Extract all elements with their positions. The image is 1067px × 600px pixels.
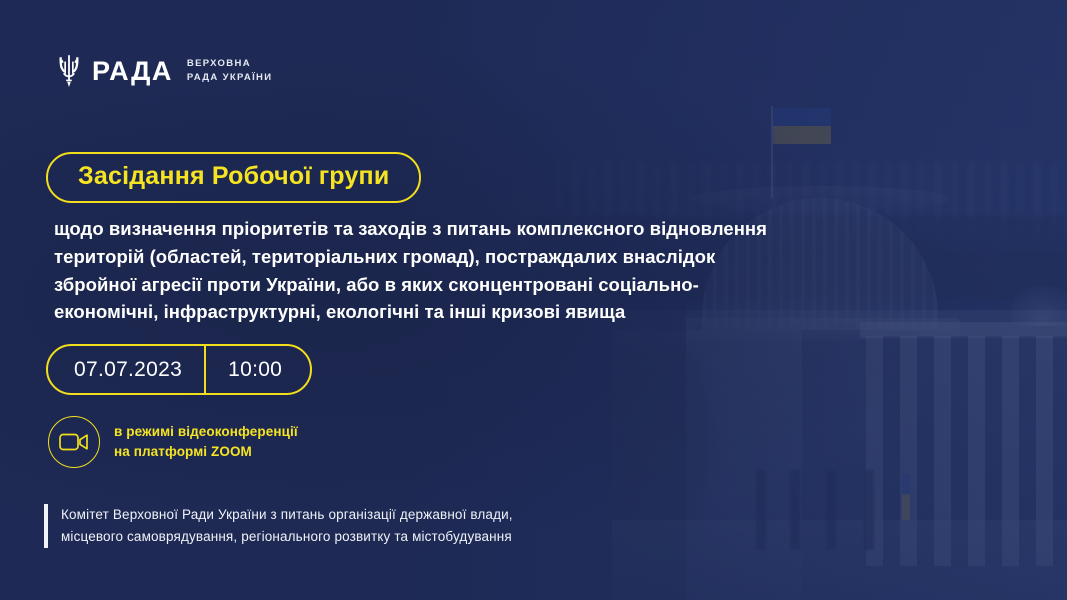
event-datetime-pill: 07.07.2023 10:00 bbox=[46, 344, 312, 395]
description-line-2: територій (областей, територіальних гром… bbox=[54, 243, 834, 271]
committee-footer: Комітет Верховної Ради України з питань … bbox=[44, 504, 513, 548]
event-date: 07.07.2023 bbox=[48, 346, 204, 393]
logo-wordmark: РАДА bbox=[92, 58, 173, 85]
ukrainian-trident-icon bbox=[56, 54, 82, 88]
logo-subtitle: ВЕРХОВНА РАДА УКРАЇНИ bbox=[187, 57, 273, 85]
event-announcement-poster: РАДА ВЕРХОВНА РАДА УКРАЇНИ Засідання Роб… bbox=[0, 0, 1067, 600]
description-line-3: збройної агресії проти України, або в як… bbox=[54, 271, 834, 299]
event-time: 10:00 bbox=[206, 346, 310, 393]
event-title-pill: Засідання Робочої групи bbox=[46, 152, 421, 203]
event-description: щодо визначення пріоритетів та заходів з… bbox=[54, 215, 834, 326]
committee-name: Комітет Верховної Ради України з питань … bbox=[61, 504, 513, 548]
event-title: Засідання Робочої групи bbox=[78, 162, 389, 190]
videoconference-text: в режимі відеоконференції на платформі Z… bbox=[114, 422, 298, 461]
video-camera-icon bbox=[48, 416, 100, 468]
description-line-4: економічні, інфраструктурні, екологічні … bbox=[54, 298, 834, 326]
rada-logo: РАДА ВЕРХОВНА РАДА УКРАЇНИ bbox=[56, 54, 272, 88]
footer-accent-bar bbox=[44, 504, 48, 548]
description-line-1: щодо визначення пріоритетів та заходів з… bbox=[54, 215, 834, 243]
videoconference-info: в режимі відеоконференції на платформі Z… bbox=[48, 416, 298, 468]
